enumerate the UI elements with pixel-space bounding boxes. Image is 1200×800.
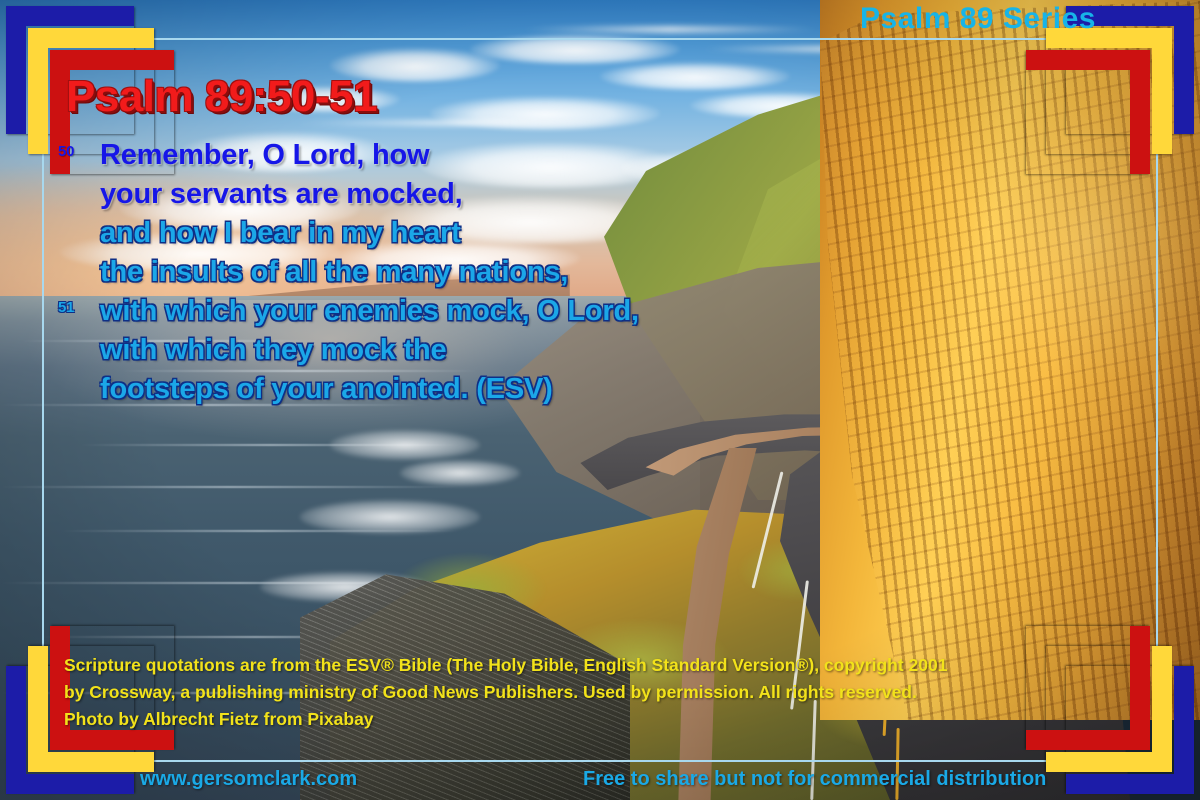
verse-line-text: with which they mock the — [100, 331, 446, 370]
cloud — [470, 34, 680, 64]
wave — [0, 486, 460, 488]
cloud-streak — [520, 26, 820, 33]
verse-line: footsteps of your anointed. (ESV) — [58, 370, 758, 409]
verse-line: and how I bear in my heart — [58, 214, 758, 253]
copyright-notice: Scripture quotations are from the ESV® B… — [64, 652, 1114, 733]
series-title: Psalm 89 Series — [860, 2, 1096, 36]
website-url[interactable]: www.gersomclark.com — [140, 768, 357, 791]
cloud — [600, 62, 790, 90]
verse-line-text: Remember, O Lord, how — [100, 136, 429, 175]
scripture-reference-title: Psalm 89:50-51 — [66, 72, 377, 122]
photo-credit: Photo by Albrecht Fietz from Pixabay — [64, 706, 1114, 733]
verse-line-text: the insults of all the many nations, — [100, 253, 568, 292]
verse-line-text: your servants are mocked, — [100, 175, 463, 214]
verse-line: your servants are mocked, — [58, 175, 758, 214]
verse-line: 51 with which your enemies mock, O Lord, — [58, 292, 758, 331]
verse-number: 50 — [58, 142, 74, 162]
copyright-line-1: Scripture quotations are from the ESV® B… — [64, 652, 1114, 679]
verse-line: the insults of all the many nations, — [58, 253, 758, 292]
verse-line: 50 Remember, O Lord, how — [58, 136, 758, 175]
surf — [330, 430, 480, 460]
license-notice: Free to share but not for commercial dis… — [583, 768, 1046, 791]
copyright-line-2: by Crossway, a publishing ministry of Go… — [64, 679, 1114, 706]
bracket-red — [1026, 50, 1150, 174]
surf — [400, 460, 520, 486]
scripture-slide: Psalm 89 Series Psalm 89:50-51 50 Rememb… — [0, 0, 1200, 800]
verse-line-text: with which your enemies mock, O Lord, — [100, 292, 639, 331]
verse-line-text: footsteps of your anointed. (ESV) — [100, 370, 553, 409]
verse-number: 51 — [58, 298, 74, 318]
verse-line-text: and how I bear in my heart — [100, 214, 461, 253]
verse-line: with which they mock the — [58, 331, 758, 370]
verse-text-block: 50 Remember, O Lord, how your servants a… — [58, 136, 758, 409]
